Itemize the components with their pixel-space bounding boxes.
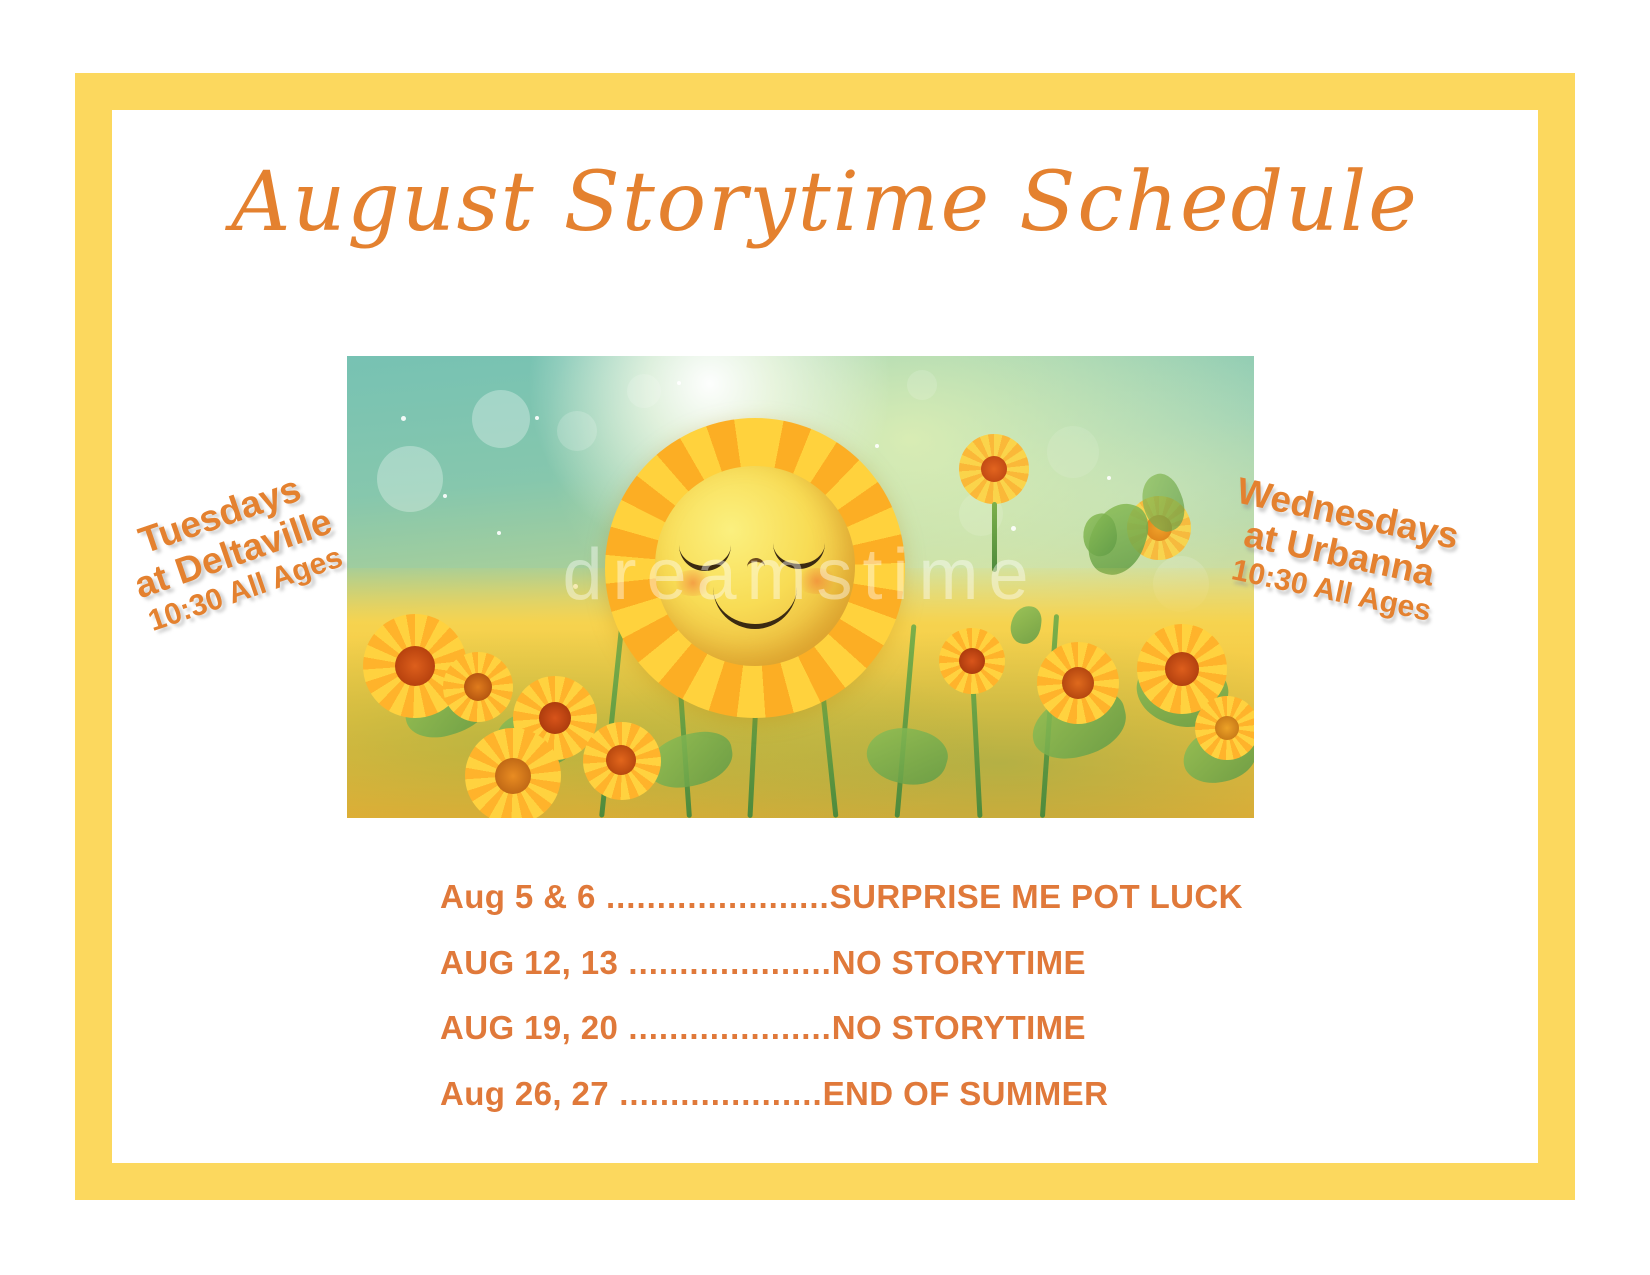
sunflower-face <box>655 466 855 666</box>
sparkle <box>677 381 681 385</box>
bokeh-circle <box>472 390 530 448</box>
schedule-event: NO STORYTIME <box>832 1009 1086 1046</box>
schedule-date: AUG 12, 13 <box>440 944 618 981</box>
field-flower-core <box>959 648 985 674</box>
schedule-dot-leader: .................... <box>609 1075 823 1112</box>
schedule-date: AUG 19, 20 <box>440 1009 618 1046</box>
background-flower-stem <box>992 502 997 572</box>
schedule-event: NO STORYTIME <box>832 944 1086 981</box>
sunflower-right-cheek <box>795 568 839 594</box>
sparkle <box>443 494 447 498</box>
field-flower-core <box>1165 652 1199 686</box>
sunflower-nose-icon <box>747 558 765 573</box>
field-flower-core <box>1062 667 1094 699</box>
sparkle <box>1107 476 1111 480</box>
schedule-event: SURPRISE ME POT LUCK <box>830 878 1243 915</box>
field-flower-core <box>539 702 571 734</box>
poster-canvas: August Storytime Schedule <box>0 0 1650 1275</box>
field-flower-core <box>395 646 435 686</box>
page-title: August Storytime Schedule <box>0 155 1650 250</box>
schedule-date: Aug 5 & 6 <box>440 878 596 915</box>
schedule-row: AUG 19, 20 ....................NO STORYT… <box>440 1003 1240 1053</box>
bokeh-circle <box>1047 426 1099 478</box>
schedule-list: Aug 5 & 6 ......................SURPRISE… <box>440 872 1240 1134</box>
sparkle <box>497 531 501 535</box>
sunflower-left-cheek <box>671 570 715 596</box>
schedule-event: END OF SUMMER <box>823 1075 1109 1112</box>
field-flower-core <box>606 745 636 775</box>
schedule-row: AUG 12, 13 ....................NO STORYT… <box>440 938 1240 988</box>
schedule-date: Aug 26, 27 <box>440 1075 609 1112</box>
bokeh-circle <box>557 411 597 451</box>
field-flower-core <box>1215 716 1239 740</box>
field-flower-core <box>495 758 531 794</box>
bokeh-circle <box>627 374 661 408</box>
sparkle <box>401 416 406 421</box>
schedule-dot-leader: .................... <box>618 1009 832 1046</box>
sunflower-right-eye-icon <box>773 538 825 569</box>
schedule-row: Aug 5 & 6 ......................SURPRISE… <box>440 872 1240 922</box>
bokeh-circle <box>377 446 443 512</box>
background-flower-core <box>981 456 1007 482</box>
schedule-dot-leader: .................... <box>618 944 832 981</box>
bokeh-circle <box>907 370 937 400</box>
sparkle <box>535 416 539 420</box>
sparkle <box>1011 526 1016 531</box>
field-flower-core <box>464 673 492 701</box>
smiling-sunflower <box>605 418 905 718</box>
schedule-row: Aug 26, 27 ....................END OF SU… <box>440 1069 1240 1119</box>
sunflower-smile-icon <box>713 578 797 629</box>
sunflower-photo: dreamstime <box>347 356 1254 818</box>
sunflower-left-eye-icon <box>679 540 731 571</box>
schedule-dot-leader: ...................... <box>596 878 830 915</box>
